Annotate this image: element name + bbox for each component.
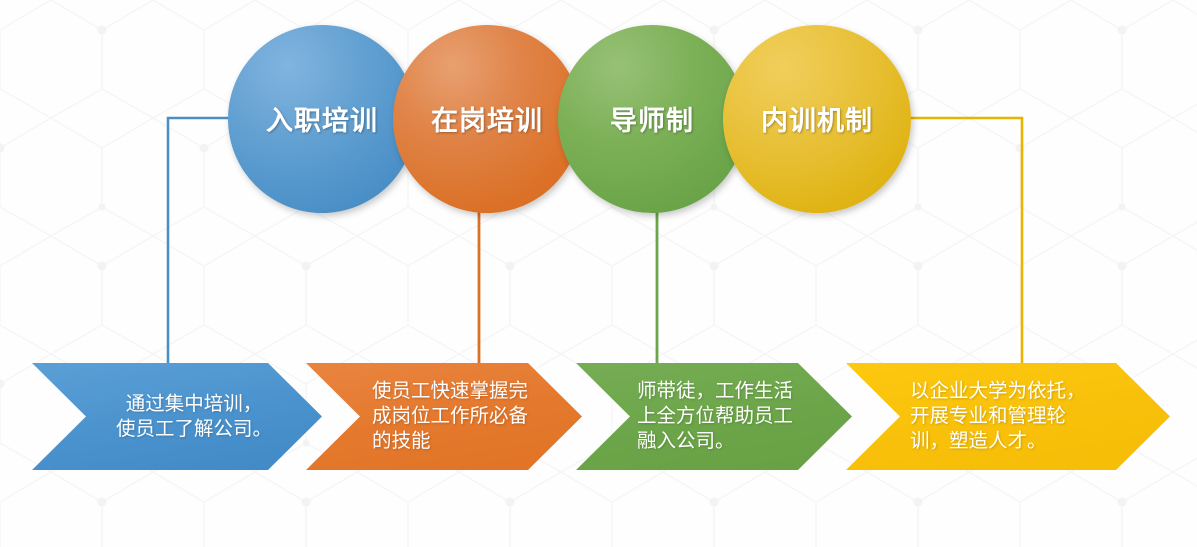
- banner-text: 使员工快速掌握完 成岗位工作所必备 的技能: [372, 379, 528, 454]
- connector-line-4: [908, 118, 1022, 366]
- circle-node-internal-training[interactable]: 内训机制: [723, 25, 911, 213]
- circle-label: 导师制: [610, 99, 694, 138]
- connector-line-1: [168, 118, 228, 366]
- banner-text: 师带徒，工作生活 上全方位帮助员工 融入公司。: [637, 379, 793, 454]
- circle-node-onboarding[interactable]: 入职培训: [228, 25, 416, 213]
- banner-text: 通过集中培训， 使员工了解公司。: [116, 392, 272, 442]
- chevron-banner-onjob[interactable]: 使员工快速掌握完 成岗位工作所必备 的技能: [306, 363, 582, 470]
- banner-text: 以企业大学为依托， 开展专业和管理轮 训，塑造人才。: [910, 379, 1086, 454]
- chevron-banner-mentorship[interactable]: 师带徒，工作生活 上全方位帮助员工 融入公司。: [576, 363, 852, 470]
- circle-label: 入职培训: [266, 99, 378, 138]
- chevron-banner-internal-training[interactable]: 以企业大学为依托， 开展专业和管理轮 训，塑造人才。: [846, 363, 1170, 470]
- circle-label: 内训机制: [761, 99, 873, 138]
- circle-node-mentorship[interactable]: 导师制: [558, 25, 746, 213]
- circle-node-onjob[interactable]: 在岗培训: [393, 25, 581, 213]
- circle-label: 在岗培训: [431, 99, 543, 138]
- chevron-banner-onboarding[interactable]: 通过集中培训， 使员工了解公司。: [32, 363, 322, 470]
